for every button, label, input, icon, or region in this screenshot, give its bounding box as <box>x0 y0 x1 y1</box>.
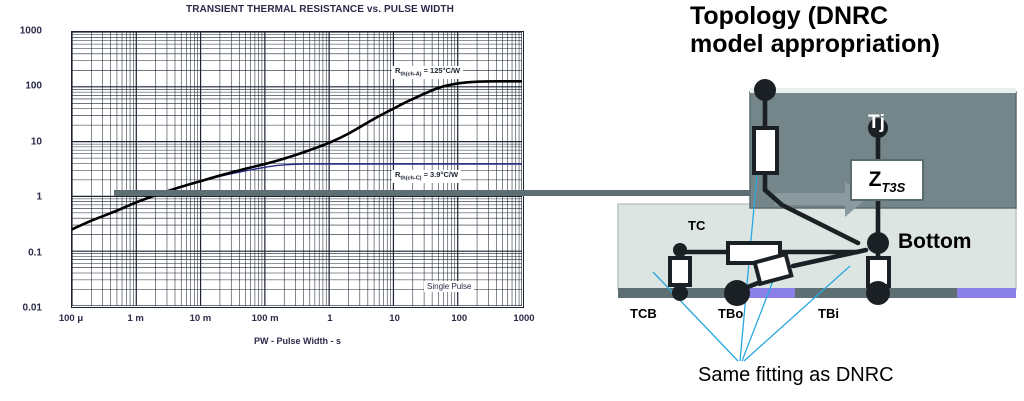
impedance-symbol: Z <box>869 168 882 192</box>
x-tick-1000: 1000 <box>494 313 554 324</box>
impedance-subscript: T3S <box>881 180 905 199</box>
node-bottom <box>867 232 889 254</box>
label-tbo: TBo <box>718 306 743 321</box>
y-tick-0.01: 0.01 <box>0 303 42 314</box>
annotation-single-pulse: Single Pulse <box>424 281 474 292</box>
y-tick-1000: 1000 <box>0 26 42 37</box>
node-top <box>754 79 776 101</box>
node-tbo <box>724 280 750 306</box>
node-tbi <box>866 281 890 305</box>
y-tick-100: 100 <box>0 81 42 92</box>
impedance-box-zt3s: ZT3S <box>850 159 924 201</box>
label-tbi: TBi <box>818 306 839 321</box>
label-tc: TC <box>688 218 705 233</box>
x-tick-1: 1 <box>300 313 360 324</box>
x-tick-10: 10 <box>365 313 425 324</box>
x-tick-1m: 1 m <box>106 313 166 324</box>
chart-title: TRANSIENT THERMAL RESISTANCE vs. PULSE W… <box>110 4 530 15</box>
anno-a-post: = 125°C/W <box>422 66 461 75</box>
anno-a-sub: th(ch-A) <box>400 72 421 78</box>
resistor-die-vertical <box>754 128 777 173</box>
x-tick-100u: 100 μ <box>41 313 101 324</box>
pad-purple-right <box>957 288 1016 298</box>
label-tcb: TCB <box>630 306 657 321</box>
annotation-rth-ch-a: Rth(ch-A) = 125°C/W <box>392 66 463 79</box>
transient-thermal-chart: TRANSIENT THERMAL RESISTANCE vs. PULSE W… <box>0 0 570 401</box>
topology-svg <box>570 0 1024 401</box>
x-tick-100: 100 <box>429 313 489 324</box>
pad-purple-left <box>747 288 795 298</box>
label-tj: Tj <box>868 112 885 134</box>
resistor-tcb-vertical <box>670 258 690 285</box>
node-tc <box>673 243 687 257</box>
anno-c-sub: th(ch-C) <box>400 176 421 182</box>
x-tick-100m: 100 m <box>235 313 295 324</box>
topology-diagram: Topology (DNRC model appropriation) <box>570 0 1024 401</box>
y-tick-10: 10 <box>0 136 42 147</box>
topology-caption: Same fitting as DNRC <box>698 364 1024 387</box>
die-top-edge <box>750 88 1016 93</box>
label-bottom: Bottom <box>898 230 971 254</box>
node-tcb <box>672 285 688 301</box>
x-tick-10m: 10 m <box>170 313 230 324</box>
chart-x-axis-label: PW - Pulse Width - s <box>71 336 524 346</box>
y-tick-0.1: 0.1 <box>0 247 42 258</box>
y-tick-1: 1 <box>0 192 42 203</box>
anno-c-post: = 3.9°C/W <box>422 170 459 179</box>
annotation-rth-ch-c: Rth(ch-C) = 3.9°C/W <box>392 170 461 183</box>
